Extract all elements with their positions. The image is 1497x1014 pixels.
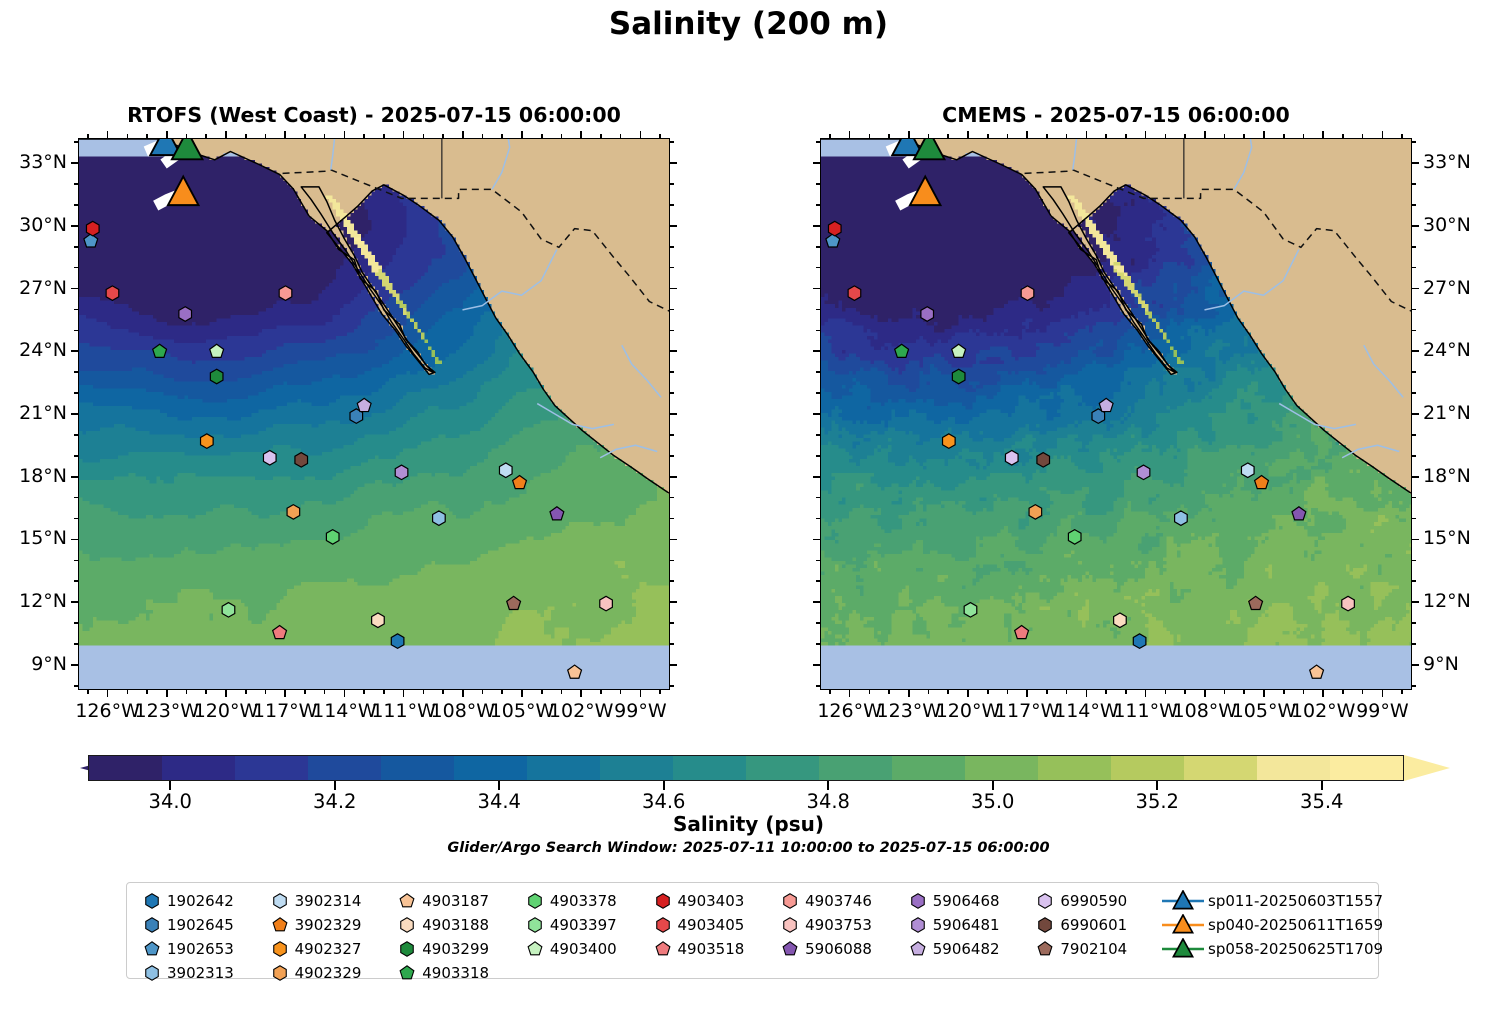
y-axis-tick bbox=[670, 371, 674, 373]
argo-float-marker-4903753[interactable] bbox=[600, 596, 613, 611]
legend-item-5906482[interactable]: 5906482 bbox=[903, 938, 1031, 960]
legend-item-sp058-20250625T1709[interactable]: sp058-20250625T1709 bbox=[1158, 938, 1368, 960]
river-line-5 bbox=[622, 345, 661, 397]
colorbar-segment bbox=[965, 756, 1038, 780]
argo-float-marker-4903187[interactable] bbox=[1310, 665, 1324, 678]
x-axis-tick bbox=[107, 690, 109, 697]
argo-float-marker-4903746-group[interactable] bbox=[279, 286, 292, 301]
colorbar-segment bbox=[819, 756, 892, 780]
map-overlay bbox=[821, 139, 1411, 689]
legend-item-4903188[interactable]: 4903188 bbox=[392, 914, 520, 936]
argo-float-marker-4902329[interactable] bbox=[287, 505, 300, 520]
y-axis-tick bbox=[1412, 330, 1416, 332]
argo-float-marker-4903403[interactable] bbox=[828, 221, 841, 236]
argo-float-marker-5906482-group[interactable] bbox=[357, 398, 371, 411]
x-axis-tick bbox=[1204, 131, 1206, 138]
argo-float-marker-1902653[interactable] bbox=[84, 234, 98, 247]
argo-float-marker-4903299[interactable] bbox=[952, 369, 965, 384]
x-axis-tick bbox=[166, 131, 168, 138]
y-axis-tick bbox=[1412, 476, 1419, 478]
y-axis-tick bbox=[1412, 141, 1416, 143]
x-axis-tick bbox=[1283, 134, 1285, 138]
y-axis-tick bbox=[670, 183, 674, 185]
argo-float-marker-4902329-group[interactable] bbox=[1029, 505, 1042, 520]
argo-float-marker-4903753-group[interactable] bbox=[600, 596, 613, 611]
argo-float-marker-1902653-group[interactable] bbox=[826, 234, 840, 247]
y-axis-tick-label: 15°N bbox=[1423, 527, 1471, 549]
argo-float-marker-4903378[interactable] bbox=[326, 530, 339, 545]
x-axis-tick bbox=[225, 131, 227, 138]
y-axis-tick bbox=[816, 392, 820, 394]
x-axis-tick bbox=[304, 690, 306, 694]
argo-float-marker-4903318[interactable] bbox=[895, 344, 909, 357]
argo-float-marker-5906088[interactable] bbox=[1292, 507, 1306, 520]
argo-float-marker-4903518-group[interactable] bbox=[273, 625, 287, 638]
x-axis-tick bbox=[829, 134, 831, 138]
x-axis-tick bbox=[344, 131, 346, 138]
hexagon-marker-icon bbox=[392, 915, 422, 935]
x-axis-tick bbox=[442, 690, 444, 694]
x-axis-tick bbox=[1125, 134, 1127, 138]
argo-float-marker-6990601-group[interactable] bbox=[295, 453, 308, 468]
glider-marker-sp058-20250625T1709[interactable] bbox=[172, 139, 203, 159]
argo-float-marker-3902314[interactable] bbox=[1241, 463, 1254, 478]
argo-float-marker-3902314[interactable] bbox=[499, 463, 512, 478]
legend-item-1902653[interactable]: 1902653 bbox=[137, 938, 265, 960]
hexagon-marker-icon bbox=[1030, 891, 1060, 911]
argo-float-marker-4903403[interactable] bbox=[86, 221, 99, 236]
y-axis-tick-label: 21°N bbox=[1423, 402, 1471, 424]
argo-float-marker-5906482[interactable] bbox=[357, 398, 371, 411]
colorbar-segment bbox=[235, 756, 308, 780]
argo-float-marker-4902327-group[interactable] bbox=[201, 434, 214, 449]
argo-float-marker-4903403-group[interactable] bbox=[828, 221, 841, 236]
river-line-4 bbox=[537, 404, 614, 429]
argo-float-marker-5906088-group[interactable] bbox=[550, 507, 564, 520]
y-axis-tick bbox=[816, 643, 820, 645]
legend-item-4903518[interactable]: 4903518 bbox=[648, 938, 776, 960]
argo-float-marker-4903400[interactable] bbox=[952, 344, 966, 357]
y-axis-tick bbox=[74, 204, 78, 206]
x-axis-tick bbox=[1342, 134, 1344, 138]
argo-float-marker-6990590[interactable] bbox=[263, 450, 276, 465]
x-axis-tick bbox=[869, 134, 871, 138]
y-axis-tick bbox=[670, 643, 674, 645]
x-axis-tick bbox=[1026, 690, 1028, 697]
argo-float-marker-4903518[interactable] bbox=[1015, 625, 1029, 638]
argo-float-marker-4903318-group[interactable] bbox=[153, 344, 167, 357]
argo-float-marker-4902329-group[interactable] bbox=[287, 505, 300, 520]
legend-item-3902314[interactable]: 3902314 bbox=[265, 890, 393, 912]
argo-float-marker-4902329[interactable] bbox=[1029, 505, 1042, 520]
legend-item-3902313[interactable]: 3902313 bbox=[137, 962, 265, 984]
argo-float-marker-4903403-group[interactable] bbox=[86, 221, 99, 236]
argo-float-marker-4903187[interactable] bbox=[568, 665, 582, 678]
x-axis-tick bbox=[1086, 690, 1088, 697]
argo-float-marker-6990590-group[interactable] bbox=[263, 450, 276, 465]
x-axis-tick bbox=[1105, 690, 1107, 694]
legend-item-4902327[interactable]: 4902327 bbox=[265, 938, 393, 960]
y-axis-tick bbox=[816, 434, 820, 436]
argo-float-marker-5906481[interactable] bbox=[1137, 465, 1150, 480]
glider-marker-sp040-20250611T1659[interactable] bbox=[168, 177, 199, 206]
y-axis-tick bbox=[816, 518, 820, 520]
argo-float-marker-4903187-group[interactable] bbox=[1310, 665, 1324, 678]
hexagon-marker-icon bbox=[520, 891, 550, 911]
glider-marker-sp040-20250611T1659-group[interactable] bbox=[910, 177, 941, 206]
x-axis-tick bbox=[1125, 690, 1127, 694]
argo-float-marker-4903188[interactable] bbox=[1114, 613, 1127, 628]
argo-float-marker-4903397-group[interactable] bbox=[222, 603, 235, 618]
x-axis-tick bbox=[849, 131, 851, 138]
colorbar-tick bbox=[334, 781, 336, 790]
hexagon-marker-icon bbox=[265, 939, 295, 959]
x-axis-tick bbox=[87, 690, 89, 694]
legend-item-label: 6990601 bbox=[1060, 916, 1127, 934]
legend-item-label: 4902329 bbox=[295, 964, 362, 982]
pentagon-marker-icon bbox=[903, 939, 933, 959]
river-line-5 bbox=[1364, 345, 1403, 397]
argo-float-marker-1902642[interactable] bbox=[391, 634, 404, 649]
argo-float-marker-1902642-group[interactable] bbox=[1133, 634, 1146, 649]
argo-float-marker-6990590-group[interactable] bbox=[1005, 450, 1018, 465]
y-axis-tick bbox=[1412, 455, 1416, 457]
argo-float-marker-3902314-group[interactable] bbox=[1241, 463, 1254, 478]
argo-float-marker-1902642-group[interactable] bbox=[391, 634, 404, 649]
legend-item-sp011-20250603T1557[interactable]: sp011-20250603T1557 bbox=[1158, 890, 1368, 912]
y-axis-tick bbox=[74, 309, 78, 311]
argo-float-marker-4903188-group[interactable] bbox=[372, 613, 385, 628]
argo-float-marker-6990601[interactable] bbox=[295, 453, 308, 468]
legend-item-4903405[interactable]: 4903405 bbox=[648, 914, 776, 936]
legend-item-4903403[interactable]: 4903403 bbox=[648, 890, 776, 912]
argo-float-marker-6990601-group[interactable] bbox=[1037, 453, 1050, 468]
x-axis-tick bbox=[908, 131, 910, 138]
argo-float-marker-3902329[interactable] bbox=[513, 475, 527, 488]
argo-float-marker-6990601[interactable] bbox=[1037, 453, 1050, 468]
legend-item-1902642[interactable]: 1902642 bbox=[137, 890, 265, 912]
legend-column: 490337849033974903400 bbox=[520, 890, 648, 984]
legend-item-4903299[interactable]: 4903299 bbox=[392, 938, 520, 960]
argo-float-marker-4903318-group[interactable] bbox=[895, 344, 909, 357]
x-axis-tick bbox=[1165, 690, 1167, 694]
argo-float-marker-4903397[interactable] bbox=[222, 603, 235, 618]
y-axis-tick-label: 12°N bbox=[1423, 590, 1471, 612]
argo-float-marker-3902329-group[interactable] bbox=[513, 475, 527, 488]
argo-float-marker-7902104[interactable] bbox=[1249, 596, 1263, 609]
x-axis-tick bbox=[521, 131, 523, 138]
x-axis-tick bbox=[1243, 690, 1245, 694]
y-axis-tick bbox=[74, 518, 78, 520]
argo-float-marker-5906481-group[interactable] bbox=[395, 465, 408, 480]
legend-column: 3902314390232949023274902329 bbox=[265, 890, 393, 984]
argo-float-marker-4903378-group[interactable] bbox=[1068, 530, 1081, 545]
x-axis-tick bbox=[1145, 690, 1147, 697]
y-axis-tick bbox=[74, 371, 78, 373]
argo-float-marker-4903518[interactable] bbox=[273, 625, 287, 638]
y-axis-tick bbox=[670, 204, 674, 206]
argo-float-marker-4903405[interactable] bbox=[848, 286, 861, 301]
y-axis-tick bbox=[1412, 392, 1416, 394]
colorbar-segment bbox=[1111, 756, 1184, 780]
x-axis-tick bbox=[580, 131, 582, 138]
y-axis-tick bbox=[670, 580, 674, 582]
argo-float-marker-5906468-group[interactable] bbox=[179, 307, 192, 322]
legend-item-label: 4903518 bbox=[678, 940, 745, 958]
y-axis-tick bbox=[816, 330, 820, 332]
legend-column: 490374649037535906088 bbox=[775, 890, 903, 984]
y-axis-tick bbox=[670, 601, 677, 603]
legend-item-5906481[interactable]: 5906481 bbox=[903, 914, 1031, 936]
left-panel-title: RTOFS (West Coast) - 2025-07-15 06:00:00 bbox=[78, 103, 670, 127]
colorbar-tick-label: 35.4 bbox=[1262, 790, 1382, 813]
pentagon-marker-icon bbox=[1030, 939, 1060, 959]
argo-float-marker-3902313[interactable] bbox=[433, 511, 446, 526]
glider-triangle-icon bbox=[1158, 915, 1208, 935]
x-axis-tick bbox=[1322, 690, 1324, 697]
argo-float-marker-5906482[interactable] bbox=[1099, 398, 1113, 411]
argo-float-marker-4903187-group[interactable] bbox=[568, 665, 582, 678]
legend[interactable]: 1902642190264519026533902313390231439023… bbox=[126, 882, 1379, 979]
right-panel-title: CMEMS - 2025-07-15 06:00:00 bbox=[820, 103, 1412, 127]
argo-float-marker-4903746-group[interactable] bbox=[1021, 286, 1034, 301]
y-axis-tick bbox=[1412, 685, 1416, 687]
y-axis-tick bbox=[1412, 183, 1416, 185]
argo-float-marker-5906468-group[interactable] bbox=[921, 307, 934, 322]
y-axis-tick bbox=[74, 183, 78, 185]
argo-float-marker-4903400-group[interactable] bbox=[952, 344, 966, 357]
y-axis-tick bbox=[670, 497, 674, 499]
colorbar[interactable] bbox=[40, 755, 1450, 781]
argo-float-marker-3902313-group[interactable] bbox=[1175, 511, 1188, 526]
hexagon-marker-icon bbox=[520, 915, 550, 935]
x-axis-tick bbox=[501, 134, 503, 138]
argo-float-marker-4903746[interactable] bbox=[279, 286, 292, 301]
legend-item-1902645[interactable]: 1902645 bbox=[137, 914, 265, 936]
y-axis-tick bbox=[74, 246, 78, 248]
argo-float-marker-3902329[interactable] bbox=[1255, 475, 1269, 488]
glider-marker-sp058-20250625T1709[interactable] bbox=[914, 139, 945, 159]
river-line-1 bbox=[1234, 139, 1252, 189]
legend-item-4903746[interactable]: 4903746 bbox=[775, 890, 903, 912]
argo-float-marker-4903188[interactable] bbox=[372, 613, 385, 628]
x-axis-tick bbox=[186, 690, 188, 694]
colorbar-segment bbox=[162, 756, 235, 780]
legend-item-4903753[interactable]: 4903753 bbox=[775, 914, 903, 936]
argo-float-marker-5906468[interactable] bbox=[179, 307, 192, 322]
argo-float-marker-4902327[interactable] bbox=[943, 434, 956, 449]
y-axis-tick bbox=[71, 288, 78, 290]
x-axis-tick bbox=[1086, 131, 1088, 138]
y-axis-tick bbox=[74, 434, 78, 436]
argo-float-marker-4903299-group[interactable] bbox=[210, 369, 223, 384]
x-axis-tick bbox=[462, 690, 464, 697]
legend-item-4902329[interactable]: 4902329 bbox=[265, 962, 393, 984]
map-panel-rtofs[interactable] bbox=[78, 138, 670, 690]
argo-float-marker-4903299[interactable] bbox=[210, 369, 223, 384]
legend-item-label: 3902313 bbox=[167, 964, 234, 982]
search-window-subtitle: Glider/Argo Search Window: 2025-07-11 10… bbox=[0, 840, 1497, 856]
argo-float-marker-4903405-group[interactable] bbox=[106, 286, 119, 301]
x-axis-tick bbox=[265, 690, 267, 694]
legend-item-5906468[interactable]: 5906468 bbox=[903, 890, 1031, 912]
y-axis-tick bbox=[74, 267, 78, 269]
x-axis-tick bbox=[521, 690, 523, 697]
argo-float-marker-4903397[interactable] bbox=[964, 603, 977, 618]
legend-item-label: 3902314 bbox=[295, 892, 362, 910]
argo-float-marker-7902104[interactable] bbox=[507, 596, 521, 609]
y-axis-tick bbox=[813, 288, 820, 290]
legend-item-label: 4903403 bbox=[678, 892, 745, 910]
legend-item-6990590[interactable]: 6990590 bbox=[1030, 890, 1158, 912]
y-axis-tick bbox=[813, 601, 820, 603]
legend-item-label: 4903318 bbox=[422, 964, 489, 982]
x-axis-tick bbox=[482, 690, 484, 694]
x-axis-tick bbox=[561, 690, 563, 694]
argo-float-marker-4903318[interactable] bbox=[153, 344, 167, 357]
hexagon-marker-icon bbox=[775, 915, 805, 935]
colorbar-tick bbox=[169, 781, 171, 790]
x-axis-tick bbox=[482, 134, 484, 138]
legend-item-4903400[interactable]: 4903400 bbox=[520, 938, 648, 960]
argo-float-marker-1902653-group[interactable] bbox=[84, 234, 98, 247]
x-axis-tick bbox=[324, 134, 326, 138]
y-axis-tick-label: 30°N bbox=[1423, 214, 1471, 236]
legend-item-4903397[interactable]: 4903397 bbox=[520, 914, 648, 936]
argo-float-marker-4903405-group[interactable] bbox=[848, 286, 861, 301]
legend-column: 490340349034054903518 bbox=[648, 890, 776, 984]
argo-float-marker-7902104-group[interactable] bbox=[1249, 596, 1263, 609]
x-axis-tick bbox=[1046, 134, 1048, 138]
argo-float-marker-4903400-group[interactable] bbox=[210, 344, 224, 357]
hexagon-marker-icon bbox=[137, 963, 167, 983]
legend-column: 4903187490318849032994903318 bbox=[392, 890, 520, 984]
argo-float-marker-1902642[interactable] bbox=[1133, 634, 1146, 649]
x-axis-tick bbox=[225, 690, 227, 697]
colorbar-tick-label: 34.0 bbox=[110, 790, 230, 813]
argo-float-marker-4903400[interactable] bbox=[210, 344, 224, 357]
legend-item-4903378[interactable]: 4903378 bbox=[520, 890, 648, 912]
x-axis-tick bbox=[501, 690, 503, 694]
hexagon-marker-icon bbox=[265, 891, 295, 911]
colorbar-body bbox=[88, 755, 1404, 781]
argo-float-marker-4903378-group[interactable] bbox=[326, 530, 339, 545]
glider-marker-sp040-20250611T1659-group[interactable] bbox=[168, 177, 199, 206]
colorbar-tick-label: 35.0 bbox=[933, 790, 1053, 813]
argo-float-marker-4903518-group[interactable] bbox=[1015, 625, 1029, 638]
legend-item-4903318[interactable]: 4903318 bbox=[392, 962, 520, 984]
legend-item-4903187[interactable]: 4903187 bbox=[392, 890, 520, 912]
x-axis-tick bbox=[659, 690, 661, 694]
argo-float-marker-6990590[interactable] bbox=[1005, 450, 1018, 465]
argo-float-marker-4903378[interactable] bbox=[1068, 530, 1081, 545]
legend-item-6990601[interactable]: 6990601 bbox=[1030, 914, 1158, 936]
argo-float-marker-4903753[interactable] bbox=[1342, 596, 1355, 611]
x-axis-tick bbox=[967, 131, 969, 138]
argo-float-marker-3902313-group[interactable] bbox=[433, 511, 446, 526]
argo-float-marker-3902314-group[interactable] bbox=[499, 463, 512, 478]
x-axis-tick bbox=[580, 690, 582, 697]
x-axis-tick bbox=[205, 134, 207, 138]
argo-float-marker-5906468[interactable] bbox=[921, 307, 934, 322]
x-axis-tick bbox=[640, 690, 642, 697]
argo-float-marker-5906482-group[interactable] bbox=[1099, 398, 1113, 411]
y-axis-tick bbox=[816, 685, 820, 687]
x-axis-tick bbox=[423, 690, 425, 694]
y-axis-tick bbox=[1412, 539, 1419, 541]
argo-float-marker-5906481-group[interactable] bbox=[1137, 465, 1150, 480]
legend-item-label: 4903187 bbox=[422, 892, 489, 910]
y-axis-tick-label: 21°N bbox=[0, 402, 67, 424]
argo-float-marker-4903299-group[interactable] bbox=[952, 369, 965, 384]
legend-item-label: 5906481 bbox=[933, 916, 1000, 934]
pentagon-marker-icon bbox=[392, 963, 422, 983]
glider-marker-sp058-20250625T1709-group[interactable] bbox=[172, 139, 203, 159]
argo-float-marker-4903397-group[interactable] bbox=[964, 603, 977, 618]
map-panel-cmems[interactable] bbox=[820, 138, 1412, 690]
legend-item-3902329[interactable]: 3902329 bbox=[265, 914, 393, 936]
legend-item-label: 4903378 bbox=[550, 892, 617, 910]
legend-item-label: 5906088 bbox=[805, 940, 872, 958]
argo-float-marker-4902327-group[interactable] bbox=[943, 434, 956, 449]
argo-float-marker-4903405[interactable] bbox=[106, 286, 119, 301]
legend-item-label: 4903400 bbox=[550, 940, 617, 958]
y-axis-tick bbox=[816, 183, 820, 185]
argo-float-marker-7902104-group[interactable] bbox=[507, 596, 521, 609]
y-axis-tick bbox=[1412, 267, 1416, 269]
x-axis-tick bbox=[908, 690, 910, 697]
legend-item-7902104[interactable]: 7902104 bbox=[1030, 938, 1158, 960]
x-axis-tick bbox=[205, 690, 207, 694]
legend-item-label: 6990590 bbox=[1060, 892, 1127, 910]
x-axis-tick bbox=[561, 134, 563, 138]
y-axis-tick bbox=[1412, 518, 1416, 520]
legend-column: 699059069906017902104 bbox=[1030, 890, 1158, 984]
legend-column: 590646859064815906482 bbox=[903, 890, 1031, 984]
x-axis-tick bbox=[600, 134, 602, 138]
legend-item-5906088[interactable]: 5906088 bbox=[775, 938, 903, 960]
glider-marker-sp058-20250625T1709-group[interactable] bbox=[914, 139, 945, 159]
argo-float-marker-4902327[interactable] bbox=[201, 434, 214, 449]
argo-float-marker-5906481[interactable] bbox=[395, 465, 408, 480]
y-axis-tick bbox=[71, 601, 78, 603]
legend-item-label: 4903405 bbox=[678, 916, 745, 934]
y-axis-tick bbox=[74, 141, 78, 143]
x-axis-tick bbox=[640, 131, 642, 138]
river-line-0 bbox=[1073, 139, 1185, 170]
argo-float-marker-3902329-group[interactable] bbox=[1255, 475, 1269, 488]
y-axis-tick bbox=[71, 539, 78, 541]
argo-float-marker-5906088-group[interactable] bbox=[1292, 507, 1306, 520]
y-axis-tick-label: 15°N bbox=[0, 527, 67, 549]
argo-float-marker-4903188-group[interactable] bbox=[1114, 613, 1127, 628]
glider-marker-sp040-20250611T1659[interactable] bbox=[910, 177, 941, 206]
x-axis-tick bbox=[1303, 690, 1305, 694]
y-axis-tick bbox=[670, 141, 674, 143]
argo-float-marker-1902653[interactable] bbox=[826, 234, 840, 247]
argo-float-marker-4903746[interactable] bbox=[1021, 286, 1034, 301]
legend-item-label: 4903397 bbox=[550, 916, 617, 934]
x-axis-tick bbox=[1283, 690, 1285, 694]
legend-item-sp040-20250611T1659[interactable]: sp040-20250611T1659 bbox=[1158, 914, 1368, 936]
y-axis-tick bbox=[71, 413, 78, 415]
argo-float-marker-4903753-group[interactable] bbox=[1342, 596, 1355, 611]
legend-item-label: 1902653 bbox=[167, 940, 234, 958]
x-axis-tick bbox=[363, 134, 365, 138]
argo-float-marker-3902313[interactable] bbox=[1175, 511, 1188, 526]
y-axis-tick bbox=[1412, 560, 1416, 562]
argo-float-marker-5906088[interactable] bbox=[550, 507, 564, 520]
